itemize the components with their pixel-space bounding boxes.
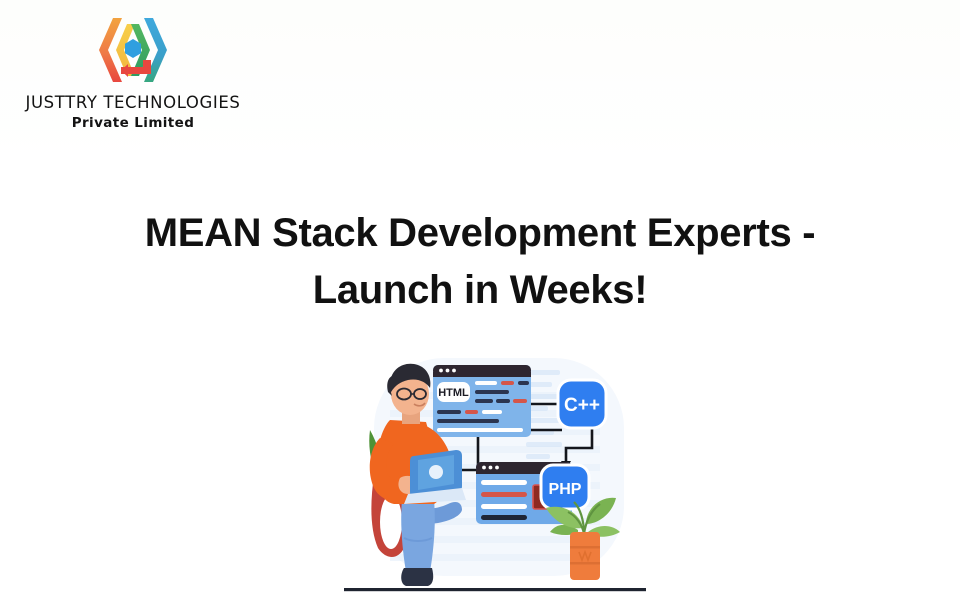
page-title: MEAN Stack Development Experts - Launch … xyxy=(70,205,890,319)
brand-subtitle: Private Limited xyxy=(8,116,258,130)
page-title-line-1: MEAN Stack Development Experts - xyxy=(145,211,816,255)
page-root: JUSTTRY TECHNOLOGIES Private Limited MEA… xyxy=(0,0,960,600)
window-dot-3 xyxy=(452,369,456,373)
browser-window-top: HTML xyxy=(433,365,531,437)
badge-php-label: PHP xyxy=(549,481,582,498)
page-title-line-2: Launch in Weeks! xyxy=(313,268,648,312)
window-dot-2 xyxy=(446,369,450,373)
window-dot-1 xyxy=(439,369,443,373)
laptop-device xyxy=(404,450,466,504)
window-dot-4 xyxy=(482,466,486,470)
illustration-svg: HTML xyxy=(330,352,660,600)
developer-coding-illustration: HTML xyxy=(330,352,660,600)
badge-php: PHP xyxy=(541,465,589,509)
window-top-label: HTML xyxy=(438,387,469,399)
brand-name: JUSTTRY TECHNOLOGIES xyxy=(8,94,258,111)
brand-logo-block[interactable]: JUSTTRY TECHNOLOGIES Private Limited xyxy=(8,14,258,130)
badge-cpp-label: C++ xyxy=(564,395,600,416)
hexagon-chevron-logo-icon xyxy=(83,14,183,86)
floor-line xyxy=(344,588,646,591)
badge-cpp: C++ xyxy=(558,380,606,428)
window-dot-6 xyxy=(495,466,499,470)
window-dot-5 xyxy=(489,466,493,470)
